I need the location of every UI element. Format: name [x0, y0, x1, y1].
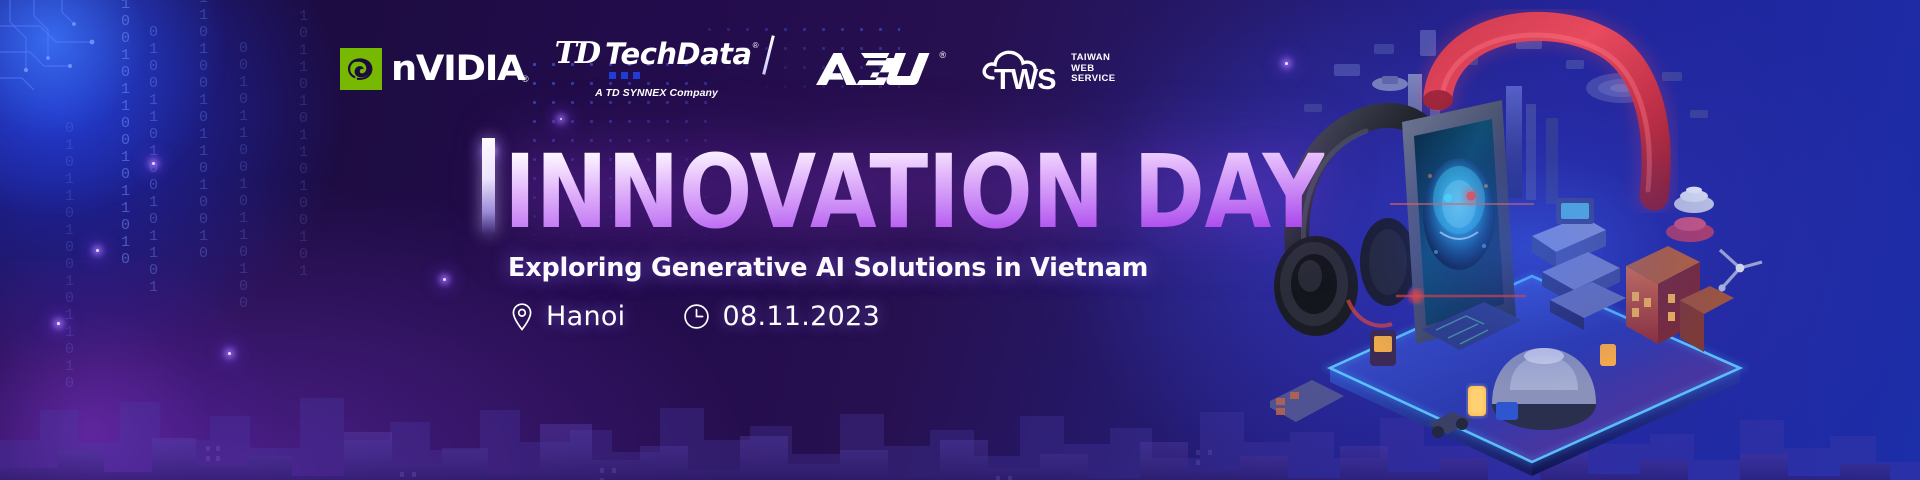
techdata-wordmark-text: TechData: [605, 40, 752, 69]
drone: [1372, 76, 1408, 91]
techdata-slash-decoration: [762, 35, 775, 75]
event-banner: 1001011001011010 0100110100101101 110100…: [0, 0, 1920, 480]
clock-icon: [683, 303, 710, 330]
techdata-td-mark: TD: [555, 39, 599, 69]
genai-letters-en: EN: [220, 166, 338, 238]
techdata-square: [633, 72, 640, 79]
binary-code-column: 1011010110100101: [296, 8, 311, 158]
techdata-tagline: A TD SYNNEX Company: [595, 87, 718, 99]
sparkle-star: [96, 249, 99, 252]
sparkle-star: [560, 118, 562, 120]
cloud-icon: TWS: [980, 44, 1066, 94]
genai-letters-ai: AI: [338, 125, 476, 242]
tws-mark: TWS: [980, 44, 1066, 94]
tws-line-3: SERVICE: [1071, 74, 1115, 85]
logo-asus[interactable]: ®: [813, 49, 947, 89]
ai-face-on-screen: [1423, 158, 1495, 270]
nvidia-wordmark: nVIDIA ®: [391, 52, 529, 87]
event-meta-row: Hanoi 08.11.2023: [510, 301, 1342, 332]
event-date: 08.11.2023: [683, 301, 880, 332]
techdata-square-accents: [609, 72, 640, 79]
tws-subtitle-lines: TAIWAN WEB SERVICE: [1071, 53, 1115, 85]
event-location: Hanoi: [510, 301, 625, 332]
svg-text:TWS: TWS: [994, 64, 1056, 94]
location-pin-icon: [510, 302, 534, 332]
nvidia-eye-icon: [340, 48, 382, 90]
nvidia-wordmark-text: nVIDIA: [391, 52, 524, 87]
sponsor-logo-row: nVIDIA ® TD TechData ® A TD SYNNEX Compa…: [340, 38, 1116, 100]
logo-techdata[interactable]: TD TechData ® A TD SYNNEX Company: [555, 39, 759, 99]
location-label: Hanoi: [546, 301, 625, 332]
techdata-square: [609, 72, 616, 79]
title-row: G EN AI INNOVATION DAY: [122, 138, 1342, 241]
techdata-registered-mark: ®: [753, 41, 759, 50]
logo-tws[interactable]: TWS TAIWAN WEB SERVICE: [980, 44, 1115, 94]
headline-group: G EN AI INNOVATION DAY Exploring Generat…: [122, 138, 1342, 332]
asus-registered-mark: ®: [940, 50, 947, 60]
logo-nvidia[interactable]: nVIDIA ®: [340, 48, 529, 90]
genai-letter-g: G: [122, 125, 220, 242]
isometric-ai-city-illustration: [1270, 0, 1790, 480]
floating-card: [1270, 380, 1344, 422]
event-subtitle: Exploring Generative AI Solutions in Vie…: [508, 253, 1342, 283]
techdata-wordmark: TD TechData ®: [555, 39, 759, 69]
robotic-arm: [1718, 250, 1762, 292]
vertical-divider-bar: [482, 138, 495, 233]
techdata-square: [621, 72, 628, 79]
date-label: 08.11.2023: [722, 301, 880, 332]
event-title: INNOVATION DAY: [504, 150, 1324, 236]
asus-wordmark-icon: [813, 49, 937, 89]
genai-logotype: G EN AI: [122, 138, 476, 241]
